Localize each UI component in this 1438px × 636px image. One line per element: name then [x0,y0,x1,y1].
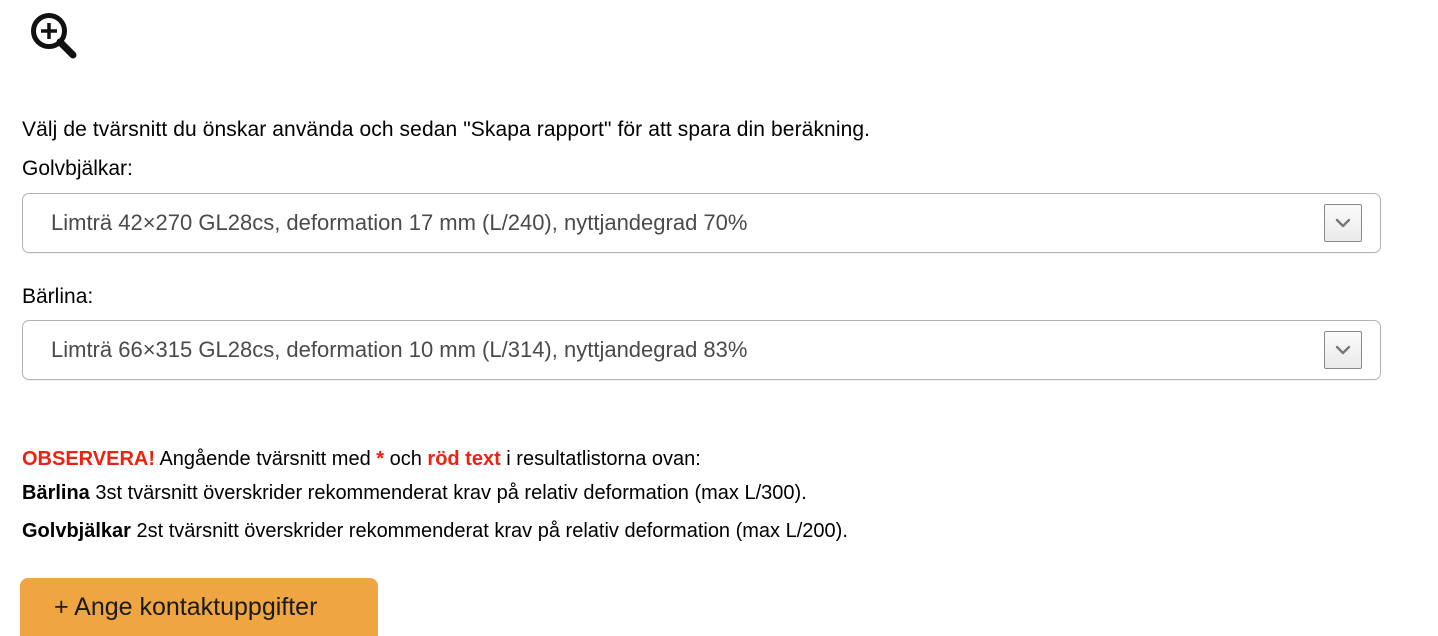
notice-line-1-part-1: Angående tvärsnitt med [155,448,376,470]
select-golvbjalkar-value: Limträ 42×270 GL28cs, deformation 17 mm … [51,194,747,252]
select-barlina[interactable]: Limträ 66×315 GL28cs, deformation 10 mm … [22,320,1381,380]
notice-heading: OBSERVERA! [22,448,155,470]
intro-text: Välj de tvärsnitt du önskar använda och … [22,116,870,144]
notice-line-2: Bärlina 3st tvärsnitt överskrider rekomm… [22,480,807,506]
add-contact-details-button[interactable]: + Ange kontaktuppgifter [20,578,378,636]
notice-line-3: Golvbjälkar 2st tvärsnitt överskrider re… [22,518,848,544]
label-golvbjalkar: Golvbjälkar: [22,156,133,182]
zoom-in-icon[interactable] [26,8,82,64]
chevron-down-icon[interactable] [1324,204,1362,242]
notice-line-2-text: 3st tvärsnitt överskrider rekommenderat … [90,482,807,504]
label-barlina: Bärlina: [22,284,93,310]
notice-red-text: röd text [427,448,500,470]
chevron-down-icon[interactable] [1324,331,1362,369]
notice-line-3-label: Golvbjälkar [22,520,131,542]
notice-line-1-part-2: och [384,448,427,470]
notice-line-1-part-3: i resultatlistorna ovan: [501,448,701,470]
notice-line-1: OBSERVERA! Angående tvärsnitt med * och … [22,446,701,472]
notice-line-2-label: Bärlina [22,482,90,504]
page-root: Välj de tvärsnitt du önskar använda och … [0,0,1438,636]
notice-line-3-text: 2st tvärsnitt överskrider rekommenderat … [131,520,848,542]
select-barlina-value: Limträ 66×315 GL28cs, deformation 10 mm … [51,321,747,379]
select-golvbjalkar[interactable]: Limträ 42×270 GL28cs, deformation 17 mm … [22,193,1381,253]
notice-asterisk: * [376,448,384,470]
